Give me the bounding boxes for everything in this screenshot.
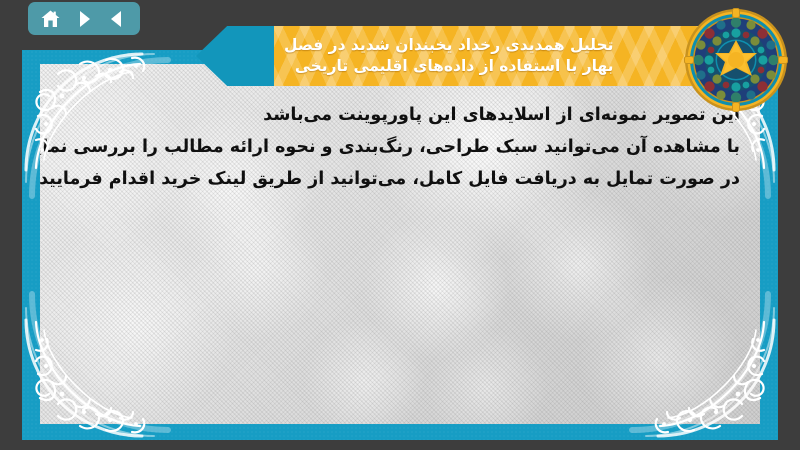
- triangle-left-icon: [107, 9, 127, 29]
- slide-title: تحلیل همدیدی رخداد یخبندان شدید در فصل ب…: [284, 35, 614, 77]
- title-line-2: بهار با استفاده از داده‌های اقلیمی تاریخ…: [284, 56, 614, 77]
- title-line-1: تحلیل همدیدی رخداد یخبندان شدید در فصل: [284, 35, 614, 56]
- slide-content-panel: این تصویر نمونه‌ای از اسلایدهای این پاور…: [40, 64, 760, 424]
- banner-arrow-tail: [196, 26, 278, 86]
- banner-body: تحلیل همدیدی رخداد یخبندان شدید در فصل ب…: [274, 26, 716, 86]
- home-button[interactable]: [38, 7, 64, 31]
- slide-stage: این تصویر نمونه‌ای از اسلایدهای این پاور…: [0, 0, 800, 450]
- slide-title-banner: تحلیل همدیدی رخداد یخبندان شدید در فصل ب…: [196, 26, 716, 86]
- previous-slide-button[interactable]: [104, 7, 130, 31]
- body-line-3: در صورت تمایل به دریافت فایل کامل، می‌تو…: [60, 164, 740, 196]
- slide-navigation-bar[interactable]: [28, 2, 140, 35]
- triangle-right-icon: [74, 9, 94, 29]
- slide-body-text: این تصویر نمونه‌ای از اسلایدهای این پاور…: [60, 100, 740, 196]
- body-line-2: با مشاهده آن می‌توانید سبک طراحی، رنگ‌بن…: [60, 132, 740, 164]
- home-icon: [40, 9, 61, 29]
- next-slide-button[interactable]: [71, 7, 97, 31]
- body-line-1: این تصویر نمونه‌ای از اسلایدهای این پاور…: [60, 100, 740, 132]
- persian-medallion-icon: [684, 8, 788, 112]
